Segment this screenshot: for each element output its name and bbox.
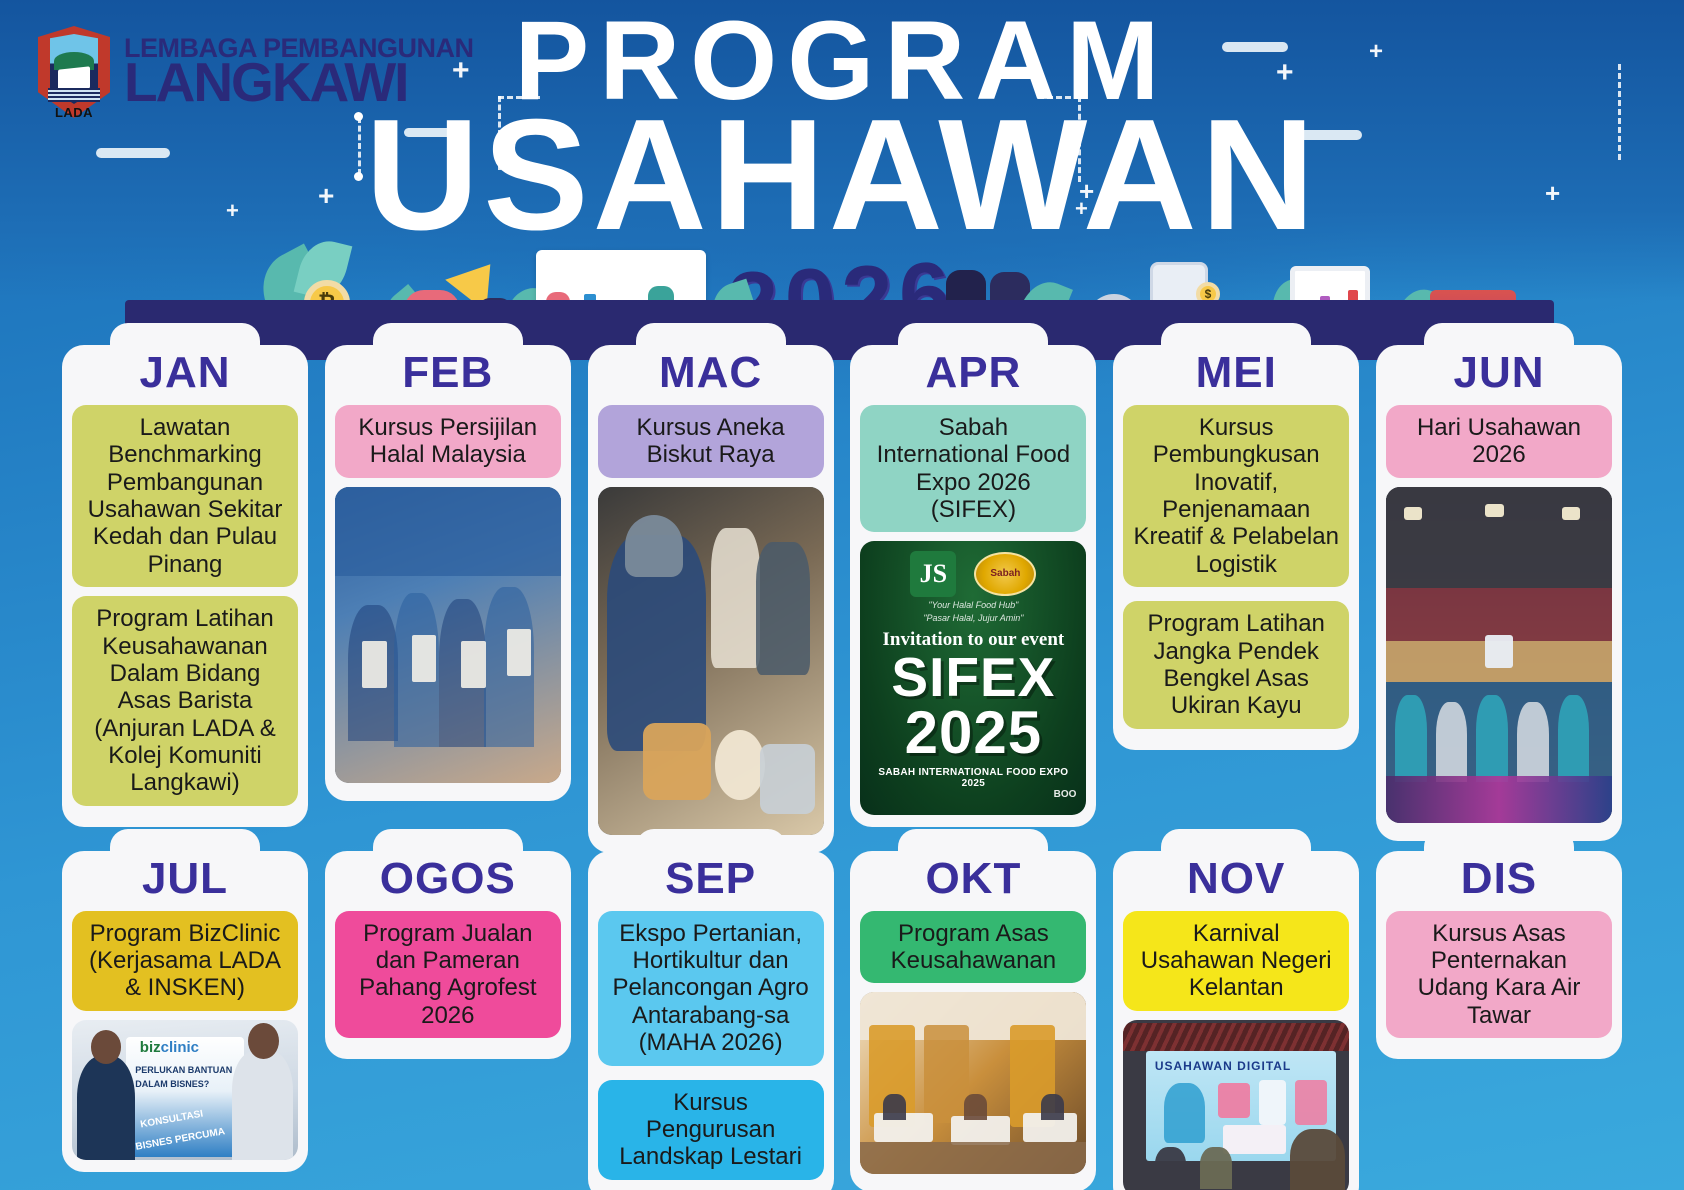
sifex-tagline-1: "Your Halal Food Hub" <box>866 600 1080 610</box>
sifex-year: 2025 <box>866 704 1080 761</box>
cloud-shape <box>1222 42 1288 52</box>
plus-sparkle-icon: + <box>1075 198 1088 220</box>
month-column-jan[interactable]: JAN Lawatan Benchmarking Pembangunan Usa… <box>62 345 308 827</box>
dashed-guide <box>1038 96 1080 99</box>
month-label-mei: MEI <box>1123 345 1349 405</box>
program-card[interactable]: Ekspo Pertanian, Hortikultur dan Pelanco… <box>598 911 824 1066</box>
month-label-apr: APR <box>860 345 1086 405</box>
month-column-mac[interactable]: MAC Kursus Aneka Biskut Raya <box>588 345 834 853</box>
usahawan-digital-photo: USAHAWAN DIGITAL <box>1123 1020 1349 1190</box>
program-card[interactable]: Kursus Aneka Biskut Raya <box>598 405 824 478</box>
digital-screen-title: USAHAWAN DIGITAL <box>1155 1059 1291 1073</box>
seminar-room-photo <box>860 992 1086 1174</box>
month-grid: JAN Lawatan Benchmarking Pembangunan Usa… <box>0 345 1684 1190</box>
lada-crest-icon: LADA <box>38 26 110 118</box>
bizclinic-logo: bizclinic <box>140 1039 199 1056</box>
plus-sparkle-icon: + <box>1369 40 1383 64</box>
dashed-guide <box>498 96 540 99</box>
program-card[interactable]: Program Asas Keusahawanan <box>860 911 1086 984</box>
poster-root: + + + + + + + + LADA LEMBAGA PEMBANGUNAN… <box>0 0 1684 1190</box>
month-label-ogos: OGOS <box>335 851 561 911</box>
brand-line-2: LANGKAWI <box>124 57 474 108</box>
month-column-apr[interactable]: APR Sabah International Food Expo 2026 (… <box>850 345 1096 827</box>
baking-class-photo <box>598 487 824 835</box>
program-card[interactable]: Karnival Usahawan Negeri Kelantan <box>1123 911 1349 1011</box>
hall-assembly-photo <box>1386 487 1612 823</box>
program-card[interactable]: Lawatan Benchmarking Pembangunan Usahawa… <box>72 405 298 587</box>
sabah-expo-logo: Sabah <box>974 552 1036 596</box>
month-row-first-half: JAN Lawatan Benchmarking Pembangunan Usa… <box>0 345 1684 853</box>
month-column-feb[interactable]: FEB Kursus Persijilan Halal Malaysia <box>325 345 571 801</box>
cloud-shape <box>1290 130 1362 140</box>
js-logo: JS <box>910 551 956 597</box>
month-label-jul: JUL <box>72 851 298 911</box>
dashed-guide <box>498 96 501 170</box>
month-label-okt: OKT <box>860 851 1086 911</box>
month-column-jul[interactable]: JUL Program BizClinic (Kerjasama LADA & … <box>62 851 308 1172</box>
lada-logo: LADA LEMBAGA PEMBANGUNAN LANGKAWI <box>38 26 474 118</box>
month-label-nov: NOV <box>1123 851 1349 911</box>
month-column-dis[interactable]: DIS Kursus Asas Penternakan Udang Kara A… <box>1376 851 1622 1059</box>
program-card[interactable]: Program BizClinic (Kerjasama LADA & INSK… <box>72 911 298 1011</box>
month-label-mac: MAC <box>598 345 824 405</box>
program-card[interactable]: Program Latihan Jangka Pendek Bengkel As… <box>1123 601 1349 728</box>
program-card[interactable]: Kursus Asas Penternakan Udang Kara Air T… <box>1386 911 1612 1038</box>
cloud-shape <box>96 148 170 158</box>
certificate-group-photo <box>335 487 561 783</box>
month-label-sep: SEP <box>598 851 824 911</box>
dashed-guide <box>1078 96 1081 182</box>
sifex-name: SIFEX <box>866 651 1080 703</box>
month-column-jun[interactable]: JUN Hari Usahawan 2026 <box>1376 345 1622 841</box>
month-column-mei[interactable]: MEI Kursus Pembungkusan Inovatif, Penjen… <box>1113 345 1359 750</box>
month-column-okt[interactable]: OKT Program Asas Keusahawanan <box>850 851 1096 1190</box>
program-card[interactable]: Kursus Persijilan Halal Malaysia <box>335 405 561 478</box>
program-card[interactable]: Kursus Pembungkusan Inovatif, Penjenamaa… <box>1123 405 1349 587</box>
cloud-shape <box>404 128 462 137</box>
month-label-feb: FEB <box>335 345 561 405</box>
dashed-guide <box>1618 64 1621 160</box>
bizclinic-line-2: DALAM BISNES? <box>135 1079 209 1090</box>
program-card[interactable]: Hari Usahawan 2026 <box>1386 405 1612 478</box>
month-label-dis: DIS <box>1386 851 1612 911</box>
program-card[interactable]: Kursus Pengurusan Landskap Lestari <box>598 1080 824 1180</box>
program-card[interactable]: Program Latihan Keusahawanan Dalam Bidan… <box>72 596 298 806</box>
sifex-booth-text: BOO <box>866 789 1080 800</box>
sifex-tagline-2: "Pasar Halal, Jujur Amin" <box>866 613 1080 623</box>
month-label-jun: JUN <box>1386 345 1612 405</box>
bizclinic-banner-photo: bizclinic PERLUKAN BANTUAN DALAM BISNES?… <box>72 1020 298 1160</box>
dashed-guide <box>358 117 361 175</box>
sifex-poster: JS Sabah "Your Halal Food Hub" "Pasar Ha… <box>860 541 1086 815</box>
month-column-nov[interactable]: NOV Karnival Usahawan Negeri Kelantan US… <box>1113 851 1359 1190</box>
plus-sparkle-icon: + <box>318 182 334 210</box>
plus-sparkle-icon: + <box>1545 180 1560 206</box>
guide-dot <box>354 172 363 181</box>
sifex-footer: SABAH INTERNATIONAL FOOD EXPO 2025 <box>866 767 1080 789</box>
program-card[interactable]: Sabah International Food Expo 2026 (SIFE… <box>860 405 1086 532</box>
program-card[interactable]: Program Jualan dan Pameran Pahang Agrofe… <box>335 911 561 1038</box>
plus-sparkle-icon: + <box>226 200 239 222</box>
month-label-jan: JAN <box>72 345 298 405</box>
bizclinic-line-1: PERLUKAN BANTUAN <box>135 1065 232 1076</box>
plus-sparkle-icon: + <box>1276 58 1294 88</box>
month-column-sep[interactable]: SEP Ekspo Pertanian, Hortikultur dan Pel… <box>588 851 834 1190</box>
month-column-ogos[interactable]: OGOS Program Jualan dan Pameran Pahang A… <box>325 851 571 1059</box>
month-row-second-half: JUL Program BizClinic (Kerjasama LADA & … <box>0 851 1684 1190</box>
crest-label: LADA <box>38 105 110 120</box>
